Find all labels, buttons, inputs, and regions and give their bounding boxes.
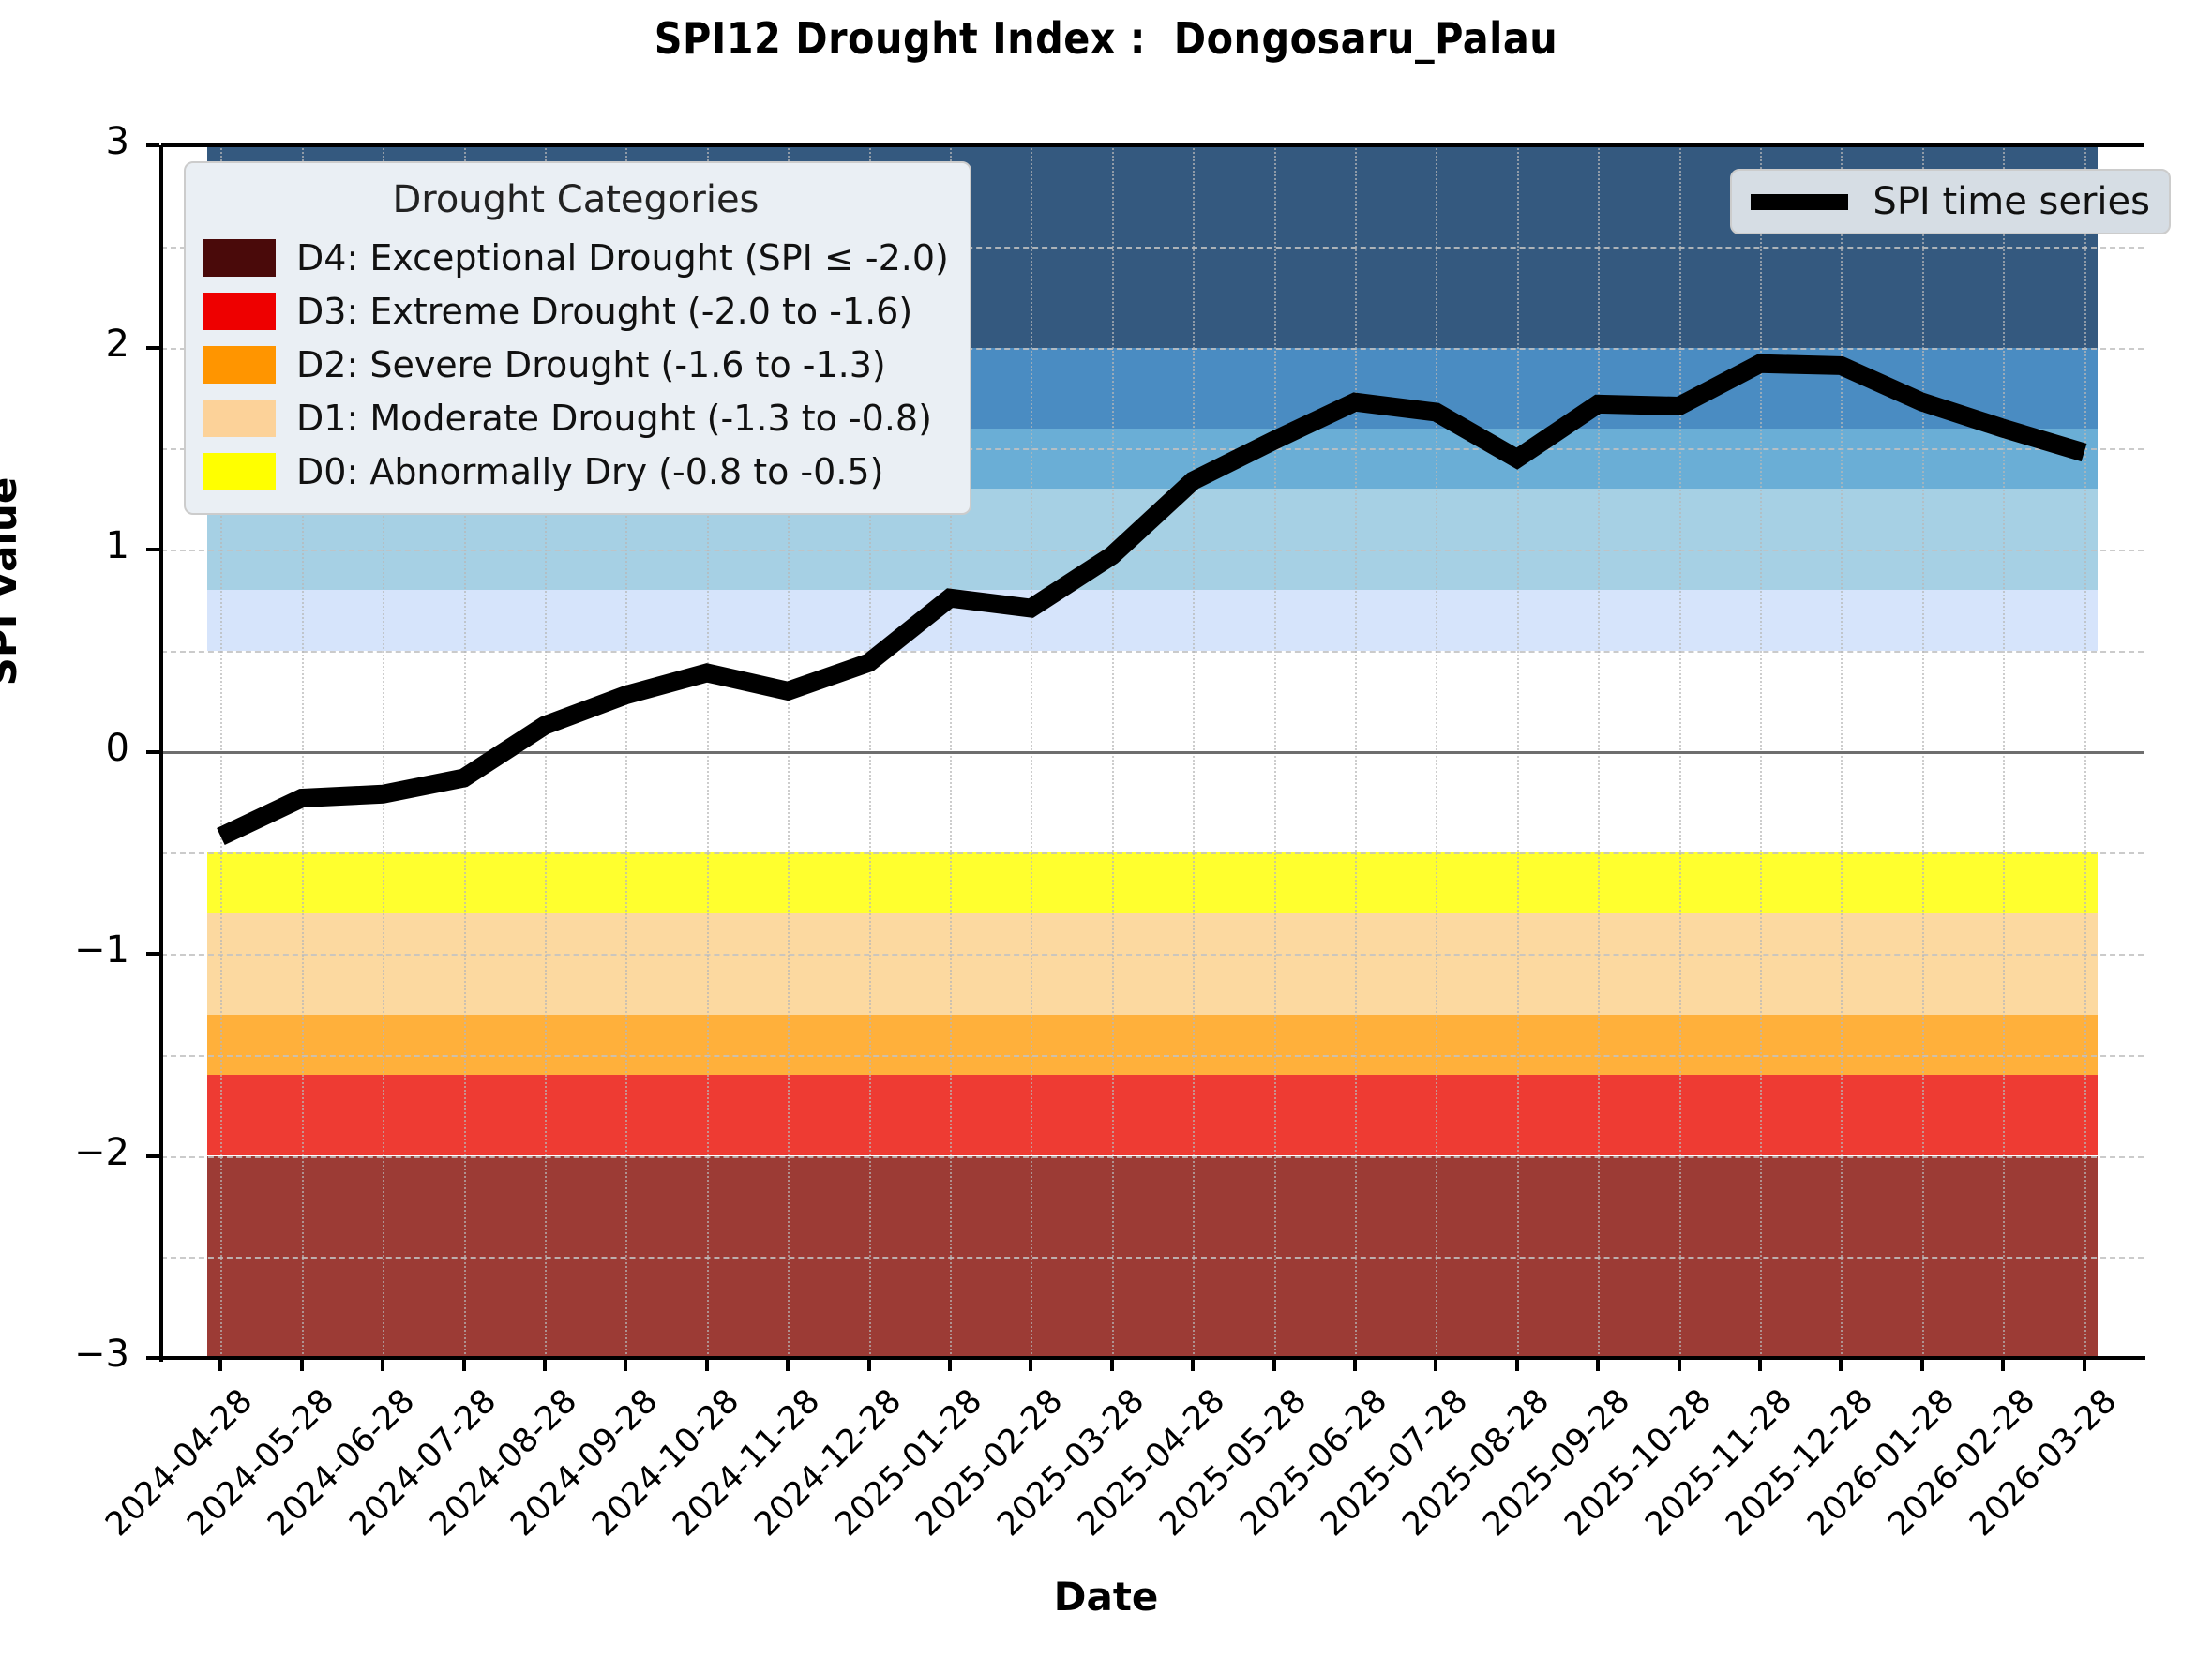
y-tick-mark [146,548,159,551]
legend-item-label: D0: Abnormally Dry (-0.8 to -0.5) [296,451,883,492]
x-tick-mark [624,1358,627,1371]
y-tick-label: 2 [11,323,129,366]
legend-item-label: D4: Exceptional Drought (SPI ≤ -2.0) [296,237,949,279]
y-tick-mark [146,1356,159,1360]
y-tick-label: −1 [11,928,129,972]
legend-color-swatch [203,239,276,277]
x-tick-mark [948,1358,952,1371]
legend-item-4[interactable]: D0: Abnormally Dry (-0.8 to -0.5) [203,445,949,498]
series-line-swatch [1751,194,1848,210]
legend-color-swatch [203,293,276,330]
x-tick-mark [786,1358,790,1371]
axis-top-spine [161,143,2144,147]
legend-title: Drought Categories [203,178,949,221]
legend-item-label: D1: Moderate Drought (-1.3 to -0.8) [296,398,932,439]
page-title: SPI12 Drought Index : Dongosaru_Palau [0,13,2212,64]
x-tick-mark [218,1358,222,1371]
legend-item-label: D2: Severe Drought (-1.6 to -1.3) [296,344,886,385]
legend-item-1[interactable]: D3: Extreme Drought (-2.0 to -1.6) [203,284,949,338]
x-tick-mark [1515,1358,1519,1371]
y-tick-mark [146,1154,159,1158]
x-tick-mark [300,1358,304,1371]
x-tick-mark [2083,1358,2086,1371]
x-tick-mark [867,1358,871,1371]
x-tick-mark [1678,1358,1681,1371]
legend-item-2[interactable]: D2: Severe Drought (-1.6 to -1.3) [203,338,949,391]
legend-item-label: D3: Extreme Drought (-2.0 to -1.6) [296,291,912,332]
x-tick-mark [381,1358,384,1371]
y-tick-mark [146,750,159,754]
y-tick-label: 3 [11,120,129,163]
series-legend-label: SPI time series [1873,180,2150,223]
y-tick-mark [146,952,159,956]
y-axis-label: SPI Value [0,477,25,686]
x-tick-mark [2001,1358,2005,1371]
x-tick-mark [1353,1358,1357,1371]
x-tick-mark [1758,1358,1762,1371]
legend-color-swatch [203,453,276,490]
x-axis-label: Date [0,1574,2212,1620]
y-tick-label: −2 [11,1131,129,1174]
legend-color-swatch [203,346,276,384]
axis-left-spine [159,145,163,1362]
drought-categories-legend[interactable]: Drought Categories D4: Exceptional Droug… [184,161,971,515]
y-tick-label: 1 [11,524,129,567]
legend-item-0[interactable]: D4: Exceptional Drought (SPI ≤ -2.0) [203,231,949,284]
y-tick-label: 0 [11,727,129,770]
x-tick-mark [543,1358,547,1371]
legend-item-3[interactable]: D1: Moderate Drought (-1.3 to -0.8) [203,391,949,445]
y-tick-mark [146,143,159,147]
legend-items: D4: Exceptional Drought (SPI ≤ -2.0)D3: … [203,231,949,498]
x-tick-mark [1029,1358,1032,1371]
series-legend[interactable]: SPI time series [1730,169,2171,234]
y-tick-mark [146,346,159,350]
x-tick-mark [1110,1358,1114,1371]
x-tick-mark [1920,1358,1924,1371]
x-tick-mark [1596,1358,1600,1371]
y-tick-label: −3 [11,1333,129,1376]
x-tick-mark [1434,1358,1437,1371]
x-tick-mark [1272,1358,1276,1371]
x-tick-mark [1839,1358,1843,1371]
axis-bottom-spine [159,1356,2145,1360]
legend-color-swatch [203,400,276,437]
x-tick-mark [1191,1358,1195,1371]
x-tick-mark [705,1358,709,1371]
x-tick-mark [462,1358,466,1371]
chart-figure: SPI12 Drought Index : Dongosaru_Palau 32… [0,0,2212,1661]
